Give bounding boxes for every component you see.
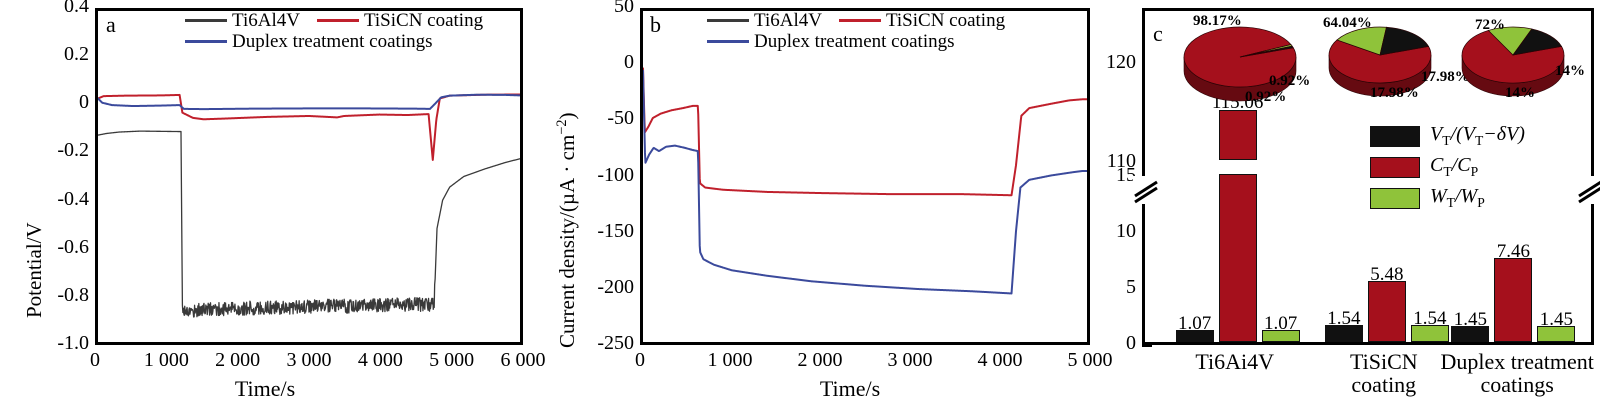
- y-tick-label: -200: [550, 276, 634, 299]
- panel-b-x-axis-label: Time/s: [600, 376, 1100, 402]
- legend-swatch-tisicn: [839, 19, 881, 22]
- y-tick-label: 50: [550, 0, 634, 18]
- panel-c: 051015110120 1.07115.061.071.545.481.541…: [1100, 0, 1600, 411]
- panel-a-legend: Ti6Al4V TiSiCN coating Duplex treatment …: [185, 10, 483, 53]
- y-tick-label: -0.6: [5, 236, 89, 259]
- panel-b-letter: b: [650, 12, 661, 38]
- axis-break-left-icon: [1133, 176, 1159, 204]
- y-tick-label: -0.4: [5, 188, 89, 211]
- y-tick-label: 0: [550, 51, 634, 74]
- panel-c-letter: c: [1153, 21, 1163, 47]
- legend-label-vt: VT/(VT−δV): [1430, 123, 1525, 149]
- legend-swatch-duplex: [707, 40, 749, 43]
- figure-root: Potential/V -1.0-0.8-0.6-0.4-0.200.20.4 …: [0, 0, 1600, 411]
- legend-swatch-ti6al4v: [707, 19, 749, 22]
- category-label: Duplex treatmentcoatings: [1412, 350, 1600, 396]
- x-tick-label: 1 000: [685, 349, 775, 372]
- y-tick-label: 5: [1058, 276, 1136, 299]
- legend-swatch-tisicn: [317, 19, 359, 22]
- y-tick-label: -100: [550, 164, 634, 187]
- legend-label-duplex: Duplex treatment coatings: [754, 31, 955, 52]
- panel-c-legend: VT/(VT−δV) CT/CP WT/WP: [1370, 123, 1525, 216]
- y-tick-label: 0.2: [5, 43, 89, 66]
- series-line: [643, 71, 1087, 294]
- x-tick-label: 3 000: [865, 349, 955, 372]
- legend-label-wt: WT/WP: [1430, 185, 1485, 211]
- panel-a-letter: a: [106, 12, 116, 38]
- pie-slice-label: 14%: [1555, 63, 1585, 80]
- legend-swatch-vt: [1370, 126, 1420, 147]
- legend-swatch-ti6al4v: [185, 19, 227, 22]
- legend-swatch-duplex: [185, 40, 227, 43]
- legend-label-ti6al4v: Ti6Al4V: [754, 10, 822, 31]
- y-tick-label: 0: [1058, 332, 1136, 355]
- panel-b-legend: Ti6Al4V TiSiCN coating Duplex treatment …: [707, 10, 1005, 53]
- legend-label-ct: CT/CP: [1430, 154, 1478, 180]
- x-tick-label: 4 000: [955, 349, 1045, 372]
- pie-slice-label: 14%: [1505, 85, 1535, 102]
- panel-c-plot-area: 1.07115.061.071.545.481.541.457.461.45 9…: [1142, 8, 1594, 345]
- legend-swatch-ct: [1370, 157, 1420, 178]
- x-tick-label: 2 000: [775, 349, 865, 372]
- series-line: [98, 131, 520, 317]
- panel-b: Current density/(µA · cm−2) -250-200-150…: [530, 0, 1100, 411]
- series-line: [98, 95, 520, 109]
- panel-a-x-axis-label: Time/s: [0, 376, 530, 402]
- y-tick-label: -150: [550, 220, 634, 243]
- y-tick-label: -50: [550, 107, 634, 130]
- pie-slice-label: 72%: [1475, 17, 1505, 34]
- y-tick-label: 0.4: [5, 0, 89, 18]
- panel-a: Potential/V -1.0-0.8-0.6-0.4-0.200.20.4 …: [0, 0, 530, 411]
- axis-break-right-icon: [1577, 176, 1600, 204]
- x-tick-label: 0: [595, 349, 685, 372]
- y-tick-label: -0.8: [5, 284, 89, 307]
- series-line: [643, 68, 1087, 195]
- y-tick-label: -0.2: [5, 139, 89, 162]
- legend-label-tisicn: TiSiCN coating: [364, 10, 483, 31]
- panel-a-plot-area: [95, 8, 523, 345]
- y-tick-label: 0: [5, 91, 89, 114]
- y-tick-label: 120: [1058, 51, 1136, 74]
- legend-label-tisicn: TiSiCN coating: [886, 10, 1005, 31]
- legend-label-duplex: Duplex treatment coatings: [232, 31, 433, 52]
- legend-swatch-wt: [1370, 188, 1420, 209]
- series-line: [98, 94, 520, 159]
- y-tick-label: 10: [1058, 220, 1136, 243]
- legend-label-ti6al4v: Ti6Al4V: [232, 10, 300, 31]
- panel-b-plot-area: [640, 8, 1090, 345]
- y-tick-label: 110: [1058, 150, 1136, 173]
